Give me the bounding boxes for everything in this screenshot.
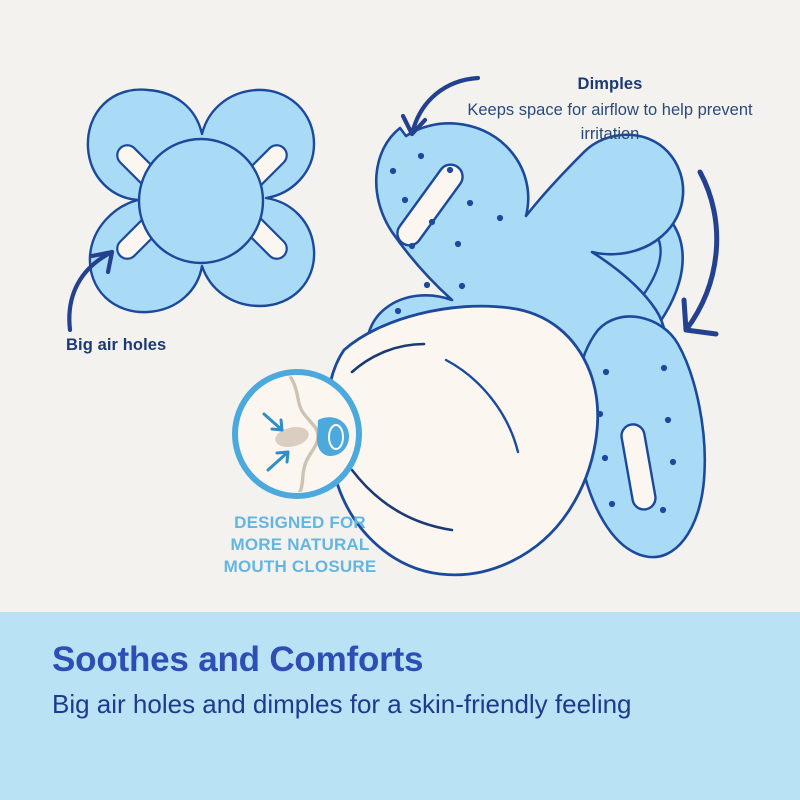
- dimple-dot: [424, 282, 430, 288]
- dimple-dot: [497, 215, 503, 221]
- dimple-dot: [660, 507, 666, 513]
- dimple-dot: [455, 241, 461, 247]
- dimple-dot: [459, 283, 465, 289]
- banner-subtext: Big air holes and dimples for a skin-fri…: [52, 687, 748, 723]
- badge-caption-line-2: MORE NATURAL: [196, 534, 404, 556]
- infographic-page: Dimples Keeps space for airflow to help …: [0, 0, 800, 800]
- dimple-dot: [409, 243, 415, 249]
- dimple-dot: [665, 417, 671, 423]
- bottom-banner: Soothes and Comforts Big air holes and d…: [0, 612, 800, 800]
- badge-caption-line-1: DESIGNED FOR: [196, 512, 404, 534]
- big-air-holes-label: Big air holes: [66, 336, 166, 355]
- dimples-description: Keeps space for airflow to help prevent …: [436, 99, 784, 147]
- dimple-dot: [402, 197, 408, 203]
- pacifier-center-circle: [139, 139, 263, 263]
- banner-heading: Soothes and Comforts: [52, 640, 748, 679]
- dimple-dot: [603, 369, 609, 375]
- front-view-pacifier: [88, 90, 314, 313]
- dimple-dot: [429, 219, 435, 225]
- dimple-dot: [390, 168, 396, 174]
- dimple-dot: [418, 153, 424, 159]
- dimple-dot: [661, 365, 667, 371]
- dimple-dot: [602, 455, 608, 461]
- dimple-dot: [670, 459, 676, 465]
- badge-caption: DESIGNED FOR MORE NATURAL MOUTH CLOSURE: [196, 512, 404, 578]
- dimple-dot: [467, 200, 473, 206]
- dimples-title: Dimples: [436, 72, 784, 97]
- dimple-dot: [447, 167, 453, 173]
- badge-caption-line-3: MOUTH CLOSURE: [196, 556, 404, 578]
- dimples-arrow-right: [684, 172, 717, 334]
- dimple-dot: [395, 308, 401, 314]
- dimples-annotation: Dimples Keeps space for airflow to help …: [436, 72, 784, 147]
- dimple-dot: [609, 501, 615, 507]
